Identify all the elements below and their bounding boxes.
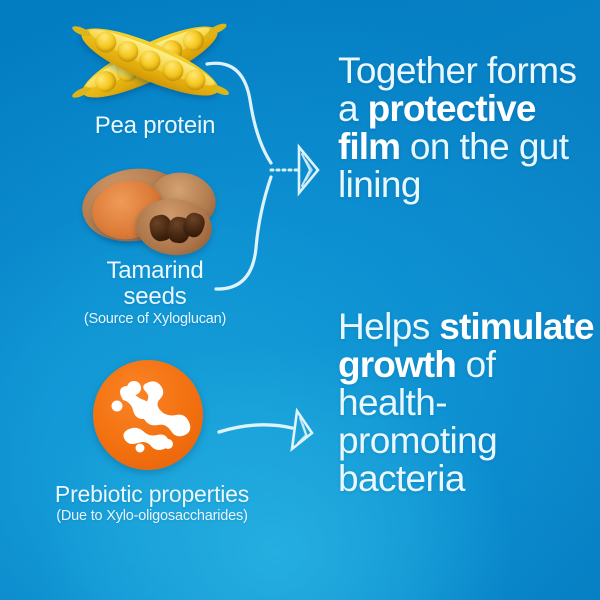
message-text: Helps: [338, 306, 439, 347]
message-stimulate-growth: Helps stimulate growth of health-promoti…: [338, 308, 596, 499]
infographic-canvas: Pea protein Tamarind seeds (Source of Xy…: [0, 0, 600, 600]
straight-arrow-icon: [219, 411, 312, 449]
message-protective-film: Together forms a protective film on the …: [338, 52, 596, 204]
messages-column: Together forms a protective film on the …: [338, 0, 600, 600]
merging-arrow-icon: [207, 63, 318, 289]
